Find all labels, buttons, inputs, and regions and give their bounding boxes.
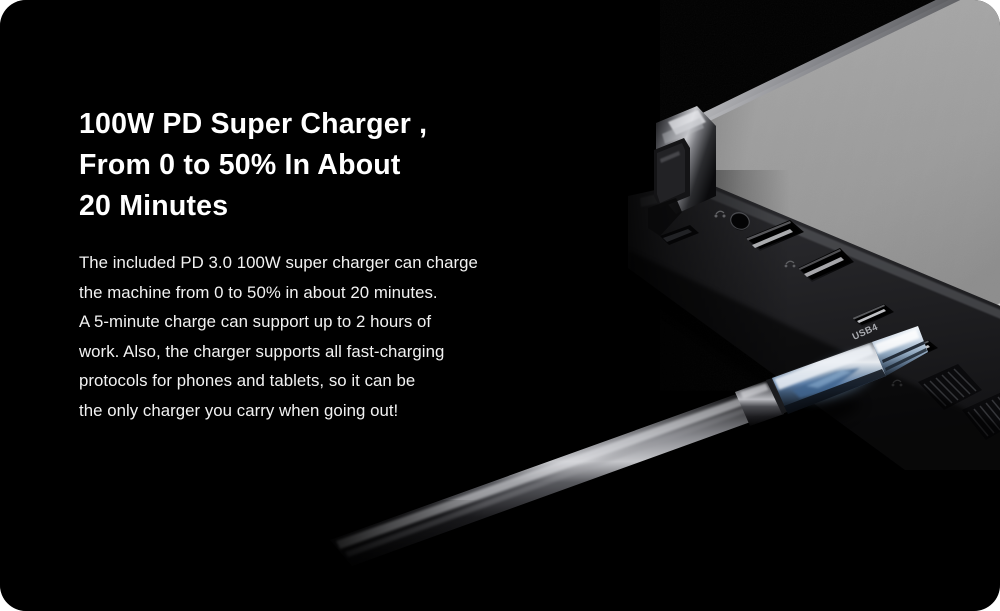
lid-chrome-edge <box>697 176 1000 364</box>
status-led-dot <box>885 337 889 341</box>
cable-ferrule <box>735 377 792 426</box>
body-line-1: The included PD 3.0 100W super charger c… <box>79 248 599 278</box>
usb-c-icon <box>892 380 903 386</box>
body-line-6: the only charger you carry when going ou… <box>79 396 599 426</box>
laptop-chassis <box>600 170 1000 490</box>
headline-line-3: 20 Minutes <box>79 186 599 227</box>
laptop-lid <box>692 0 1000 352</box>
card-reader-slot <box>746 220 804 251</box>
body-line-3: A 5-minute charge can support up to 2 ho… <box>79 307 599 337</box>
connector-tip <box>872 326 928 376</box>
headline: 100W PD Super Charger , From 0 to 50% In… <box>79 104 599 227</box>
body-line-5: protocols for phones and tablets, so it … <box>79 366 599 396</box>
headline-line-2: From 0 to 50% In About <box>79 145 599 186</box>
headphone-icon <box>715 211 726 217</box>
svg-text:USB4: USB4 <box>851 322 880 343</box>
promo-text-block: 100W PD Super Charger , From 0 to 50% In… <box>79 104 599 426</box>
hdmi-port <box>785 248 854 282</box>
connector-glow <box>795 347 881 409</box>
hdmi-icon <box>785 261 796 267</box>
connector-housing <box>772 342 886 414</box>
body-line-2: the machine from 0 to 50% in about 20 mi… <box>79 278 599 308</box>
usb-c-port-usb4 <box>852 304 894 327</box>
promo-panel: USB4 <box>0 0 1000 611</box>
usb4-port-label: USB4 <box>851 322 880 343</box>
headline-line-1: 100W PD Super Charger , <box>79 104 599 145</box>
usb-c-port-secondary <box>896 340 938 363</box>
lid-fore-edge <box>688 0 1000 129</box>
laptop-hinge <box>648 106 716 236</box>
body-copy: The included PD 3.0 100W super charger c… <box>79 248 599 426</box>
vent-grille-left <box>918 364 982 410</box>
headphone-jack-port <box>715 210 753 234</box>
vent-grille-right <box>962 392 1000 440</box>
port-shadowed-left <box>660 225 699 245</box>
connector-shadow <box>736 391 864 457</box>
body-line-4: work. Also, the charger supports all fas… <box>79 337 599 367</box>
